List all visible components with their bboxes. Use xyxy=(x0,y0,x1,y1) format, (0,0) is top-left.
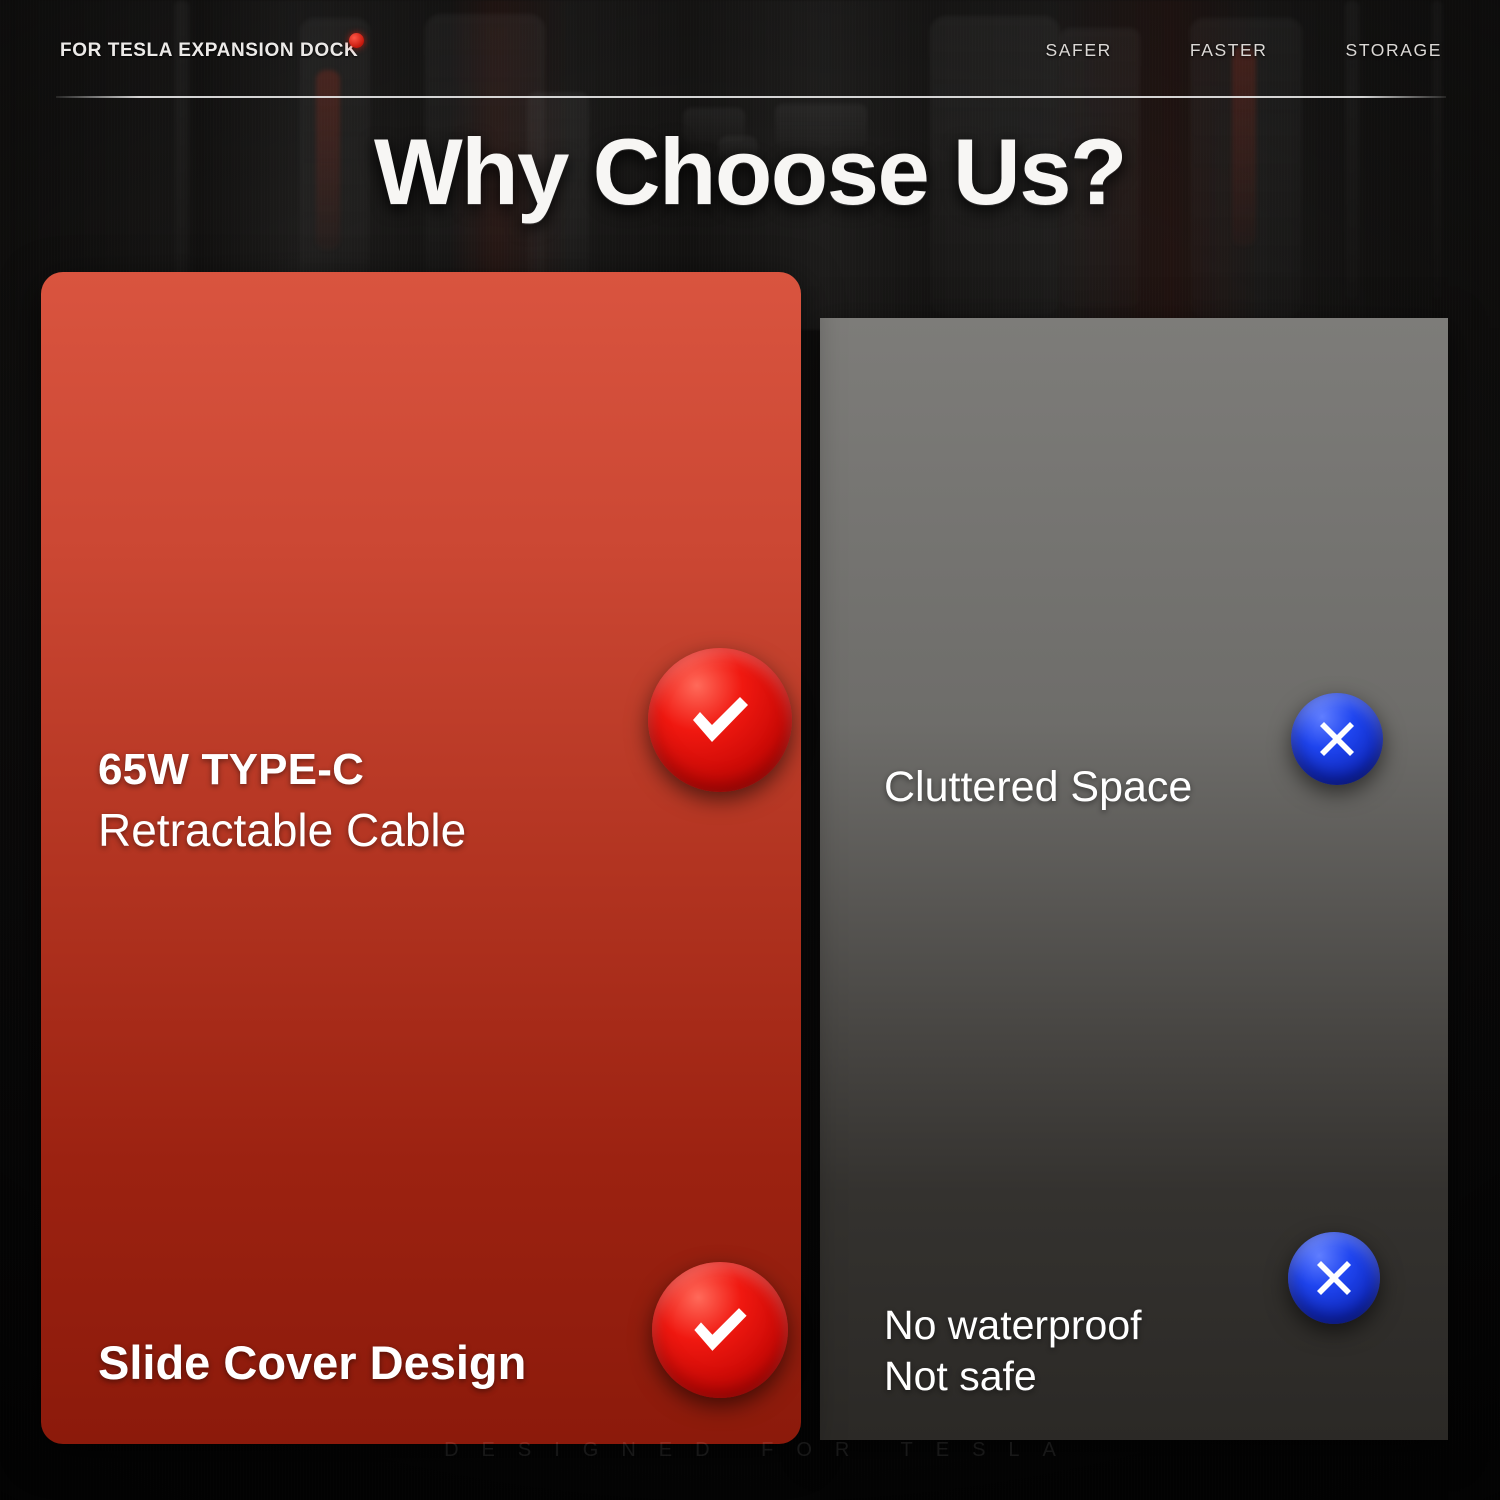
footer-watermark: DESIGNED FOR TESLA xyxy=(0,1439,1500,1462)
nav-item-faster[interactable]: FASTER xyxy=(1190,40,1268,61)
pro-panel xyxy=(41,272,801,1444)
page-title: Why Choose Us? xyxy=(0,118,1500,226)
caption-65w-type-c: 65W TYPE-C Retractable Cable xyxy=(98,745,466,857)
check-icon xyxy=(680,680,760,760)
x-icon xyxy=(1309,1253,1359,1303)
caption-cluttered-space-text: Cluttered Space xyxy=(884,763,1192,812)
page-header: FOR TESLA EXPANSION DOCK SAFER FASTER ST… xyxy=(0,0,1500,96)
logo-red-dot-icon xyxy=(349,33,364,48)
x-icon xyxy=(1312,714,1362,764)
caption-no-waterproof-line1: No waterproof xyxy=(884,1300,1142,1351)
caption-cluttered-space: Cluttered Space xyxy=(884,763,1192,812)
nav-item-safer[interactable]: SAFER xyxy=(1046,40,1112,61)
cross-badge-cluttered xyxy=(1291,693,1383,785)
caption-65w-line2: Retractable Cable xyxy=(98,803,466,857)
check-badge-65w xyxy=(648,648,792,792)
check-badge-slide-cover xyxy=(652,1262,788,1398)
main-nav: SAFER FASTER STORAGE xyxy=(1046,40,1442,61)
nav-item-storage[interactable]: STORAGE xyxy=(1346,40,1442,61)
cross-badge-no-waterproof xyxy=(1288,1232,1380,1324)
brand-logo-text: FOR TESLA EXPANSION DOCK xyxy=(60,40,358,62)
check-icon xyxy=(682,1292,758,1368)
caption-slide-cover-text: Slide Cover Design xyxy=(98,1335,526,1390)
brand-logo[interactable]: FOR TESLA EXPANSION DOCK xyxy=(60,40,364,62)
caption-no-waterproof-line2: Not safe xyxy=(884,1351,1142,1402)
caption-slide-cover: Slide Cover Design xyxy=(98,1335,526,1390)
caption-no-waterproof: No waterproof Not safe xyxy=(884,1300,1142,1402)
header-divider xyxy=(56,96,1446,98)
caption-65w-line1: 65W TYPE-C xyxy=(98,745,466,795)
product-feature-graphic: FOR TESLA EXPANSION DOCK SAFER FASTER ST… xyxy=(0,0,1500,1500)
